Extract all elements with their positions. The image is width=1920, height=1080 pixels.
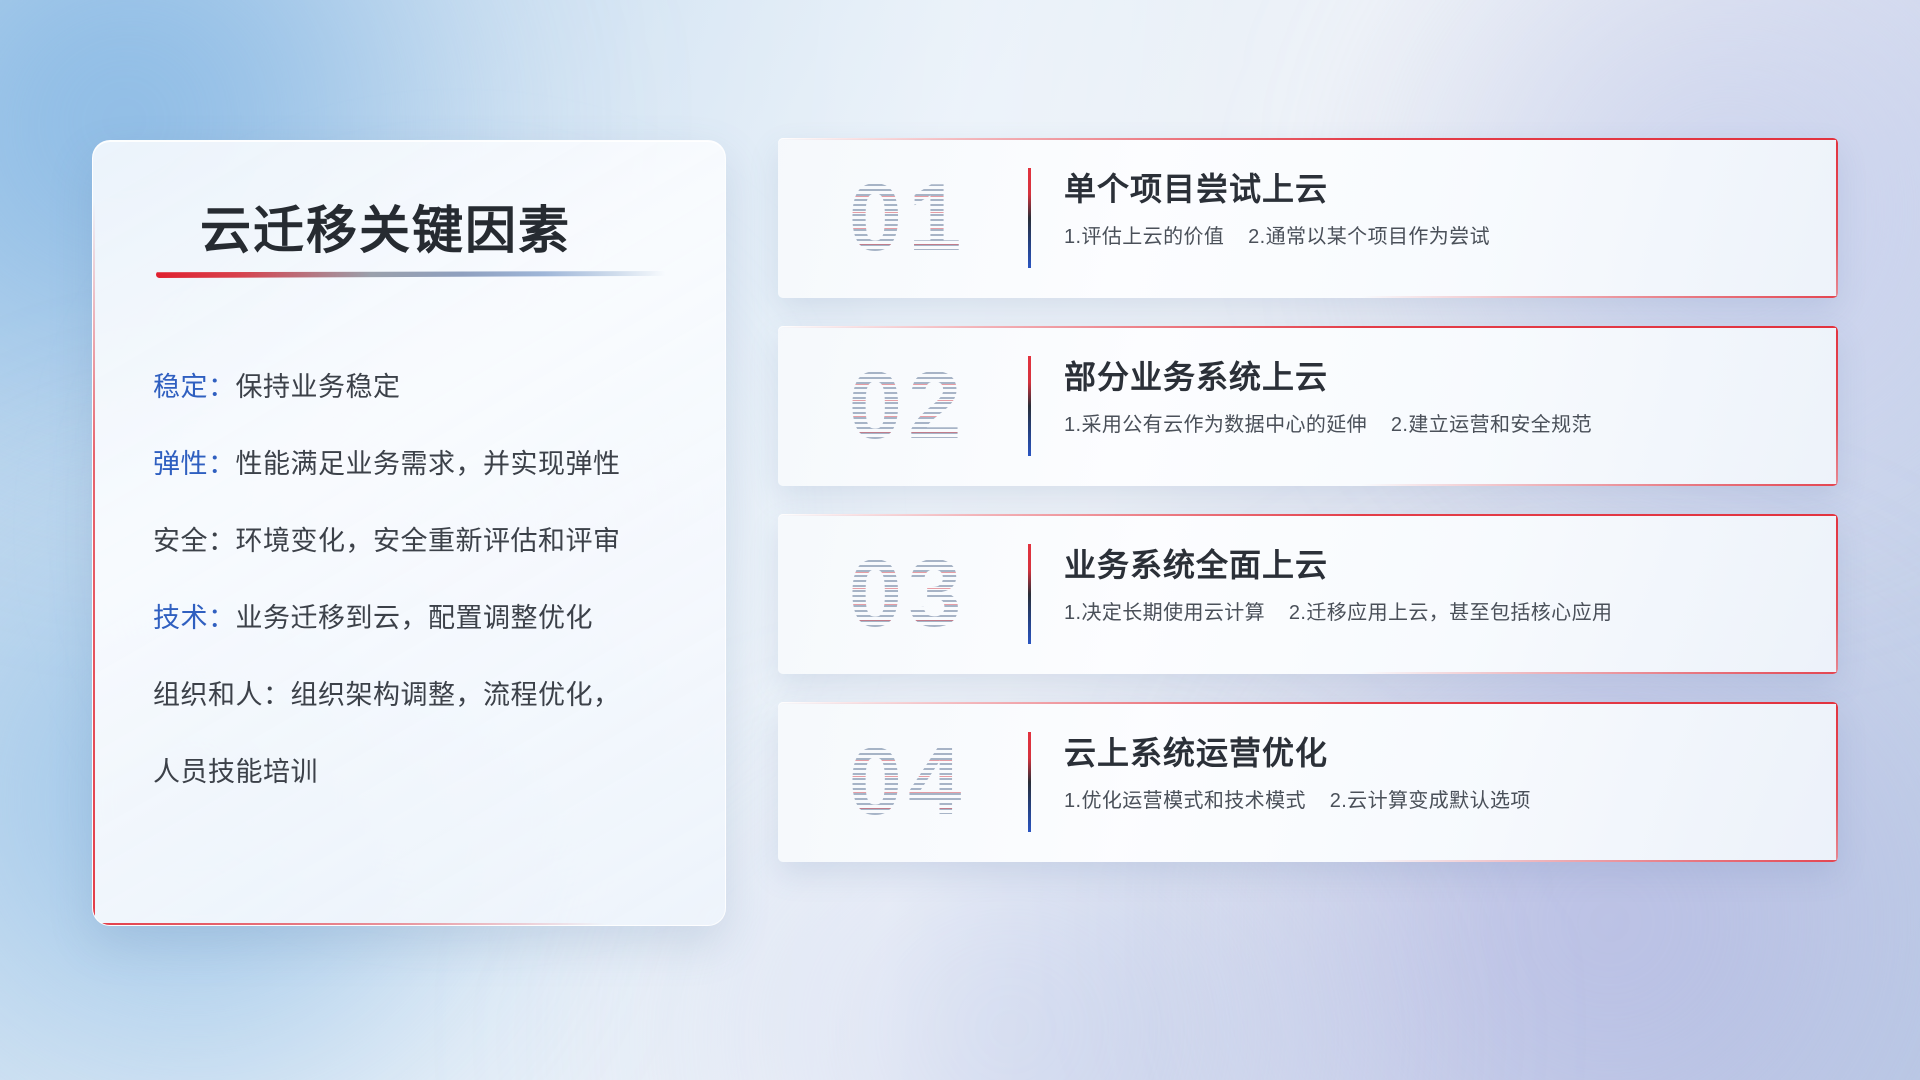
list-item-text: 性能满足业务需求，并实现弹性: [236, 449, 621, 479]
list-item-label: 稳定：: [153, 372, 236, 402]
card-right-accent: [1836, 326, 1838, 486]
step-number-watermark: 04: [813, 728, 1003, 836]
step-title: 业务系统全面上云: [1064, 546, 1798, 584]
card-bottom-accent: [1361, 672, 1838, 674]
card-top-accent: [778, 326, 1838, 328]
step-title: 云上系统运营优化: [1064, 734, 1798, 772]
card-bottom-accent: [1361, 860, 1838, 862]
card-top-accent: [778, 702, 1838, 704]
key-factors-panel: 云迁移关键因素 稳定：保持业务稳定 弹性：性能满足业务需求，并实现弹性 安全：环…: [92, 140, 726, 926]
list-item-text: 环境变化，安全重新评估和评审: [236, 526, 621, 556]
list-item-label: 技术：: [153, 603, 236, 633]
step-subtitle: 1.决定长期使用云计算 2.迁移应用上云，甚至包括核心应用: [1064, 600, 1798, 626]
step-title: 部分业务系统上云: [1064, 358, 1798, 396]
list-item: 组织和人：组织架构调整，流程优化，: [153, 675, 685, 716]
list-item: 稳定：保持业务稳定: [153, 367, 685, 408]
slide-stage: 云迁移关键因素 稳定：保持业务稳定 弹性：性能满足业务需求，并实现弹性 安全：环…: [0, 0, 1920, 1080]
step-number-watermark: 03: [813, 540, 1003, 648]
step-card-03[interactable]: 03 03 业务系统全面上云 1.决定长期使用云计算 2.迁移应用上云，甚至包括…: [778, 514, 1838, 674]
list-item-continuation: 人员技能培训: [153, 752, 685, 793]
step-title: 单个项目尝试上云: [1064, 170, 1798, 208]
migration-steps-list: 01 01 单个项目尝试上云 1.评估上云的价值 2.通常以某个项目作为尝试 0…: [778, 138, 1838, 890]
step-card-02[interactable]: 02 02 部分业务系统上云 1.采用公有云作为数据中心的延伸 2.建立运营和安…: [778, 326, 1838, 486]
list-item-label: 安全：: [153, 526, 236, 556]
card-body: 部分业务系统上云 1.采用公有云作为数据中心的延伸 2.建立运营和安全规范: [1064, 358, 1798, 438]
card-body: 单个项目尝试上云 1.评估上云的价值 2.通常以某个项目作为尝试: [1064, 170, 1798, 250]
card-top-accent: [778, 138, 1838, 140]
list-item-label: 组织和人：: [153, 680, 291, 710]
step-card-01[interactable]: 01 01 单个项目尝试上云 1.评估上云的价值 2.通常以某个项目作为尝试: [778, 138, 1838, 298]
step-subtitle: 1.采用公有云作为数据中心的延伸 2.建立运营和安全规范: [1064, 412, 1798, 438]
list-item-text: 保持业务稳定: [236, 372, 401, 402]
card-bottom-accent: [1361, 484, 1838, 486]
card-bottom-accent: [1361, 296, 1838, 298]
card-right-accent: [1836, 138, 1838, 298]
step-card-04[interactable]: 04 04 云上系统运营优化 1.优化运营模式和技术模式 2.云计算变成默认选项: [778, 702, 1838, 862]
list-item-text: 业务迁移到云，配置调整优化: [236, 603, 594, 633]
card-right-accent: [1836, 702, 1838, 862]
panel-bottom-accent-edge: [93, 923, 605, 925]
list-item: 技术：业务迁移到云，配置调整优化: [153, 598, 685, 639]
card-divider-bar: [1028, 732, 1031, 832]
card-top-accent: [778, 514, 1838, 516]
step-number-watermark: 02: [813, 352, 1003, 460]
list-item-text: 人员技能培训: [153, 757, 318, 787]
card-divider-bar: [1028, 544, 1031, 644]
card-body: 云上系统运营优化 1.优化运营模式和技术模式 2.云计算变成默认选项: [1064, 734, 1798, 814]
list-item: 弹性：性能满足业务需求，并实现弹性: [153, 444, 685, 485]
panel-left-accent-edge: [93, 201, 95, 925]
key-factors-list: 稳定：保持业务稳定 弹性：性能满足业务需求，并实现弹性 安全：环境变化，安全重新…: [153, 367, 685, 793]
title-underline-gradient: [156, 271, 666, 278]
step-number-watermark: 01: [813, 164, 1003, 272]
card-divider-bar: [1028, 356, 1031, 456]
step-subtitle: 1.评估上云的价值 2.通常以某个项目作为尝试: [1064, 224, 1798, 250]
list-item-label: 弹性：: [153, 449, 236, 479]
page-title: 云迁移关键因素: [200, 189, 571, 263]
card-divider-bar: [1028, 168, 1031, 268]
list-item: 安全：环境变化，安全重新评估和评审: [153, 521, 685, 562]
card-body: 业务系统全面上云 1.决定长期使用云计算 2.迁移应用上云，甚至包括核心应用: [1064, 546, 1798, 626]
list-item-text: 组织架构调整，流程优化，: [291, 680, 621, 710]
card-right-accent: [1836, 514, 1838, 674]
step-subtitle: 1.优化运营模式和技术模式 2.云计算变成默认选项: [1064, 788, 1798, 814]
